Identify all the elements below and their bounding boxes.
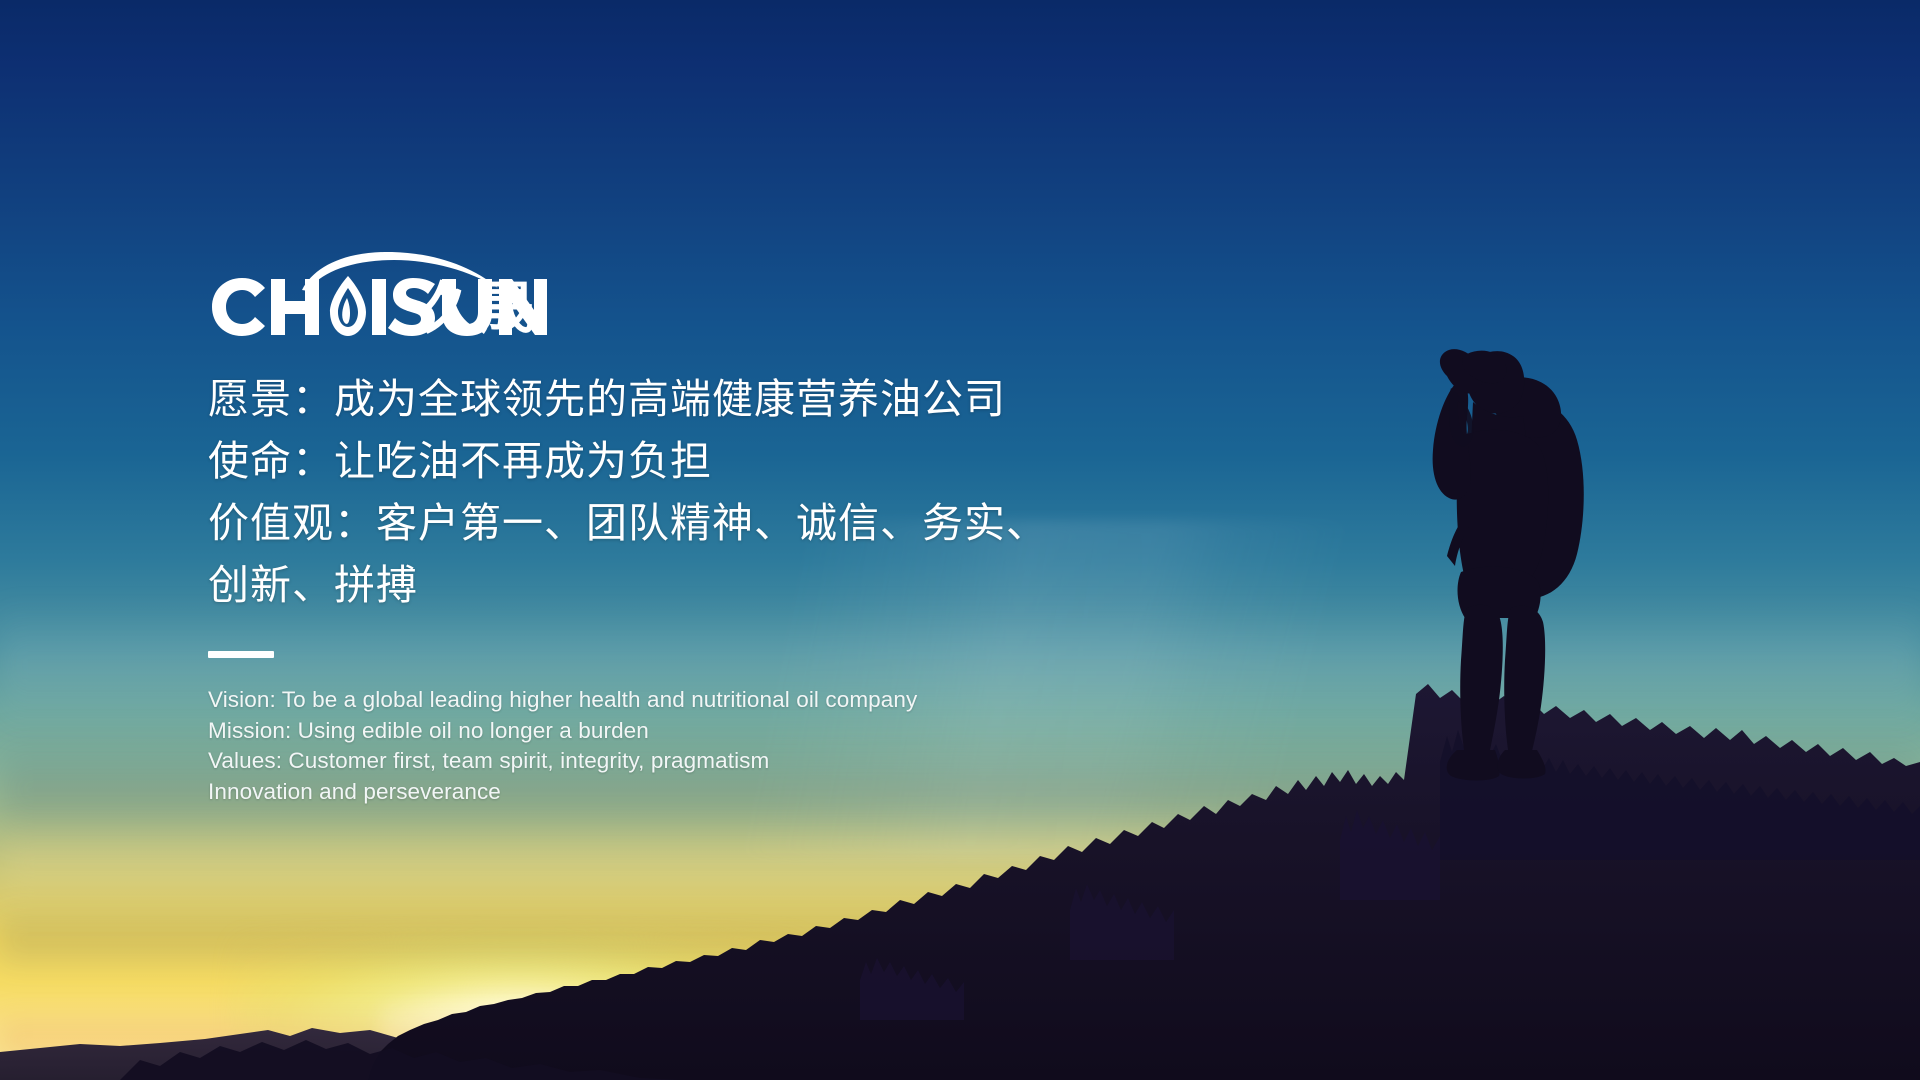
chinese-statement-block: 愿景：成为全球领先的高端健康营养油公司 使命：让吃油不再成为负担 价值观：客户第… xyxy=(208,368,1328,616)
mission-line-cn: 使命：让吃油不再成为负担 xyxy=(208,430,1328,492)
vision-line-cn: 愿景：成为全球领先的高端健康营养油公司 xyxy=(208,368,1328,430)
logo-cn-text: 久晟 xyxy=(422,277,534,338)
logo-chinese-characters: 久晟 xyxy=(422,276,542,338)
slide-canvas: 久晟 愿景：成为全球领先的高端健康营养油公司 使命：让吃油不再成为负担 价值观：… xyxy=(0,0,1920,1080)
values-line-en-1: Values: Customer first, team spirit, int… xyxy=(208,746,1328,777)
values-line-en-2: Innovation and perseverance xyxy=(208,777,1328,808)
vision-line-en: Vision: To be a global leading higher he… xyxy=(208,685,1328,716)
brand-logo[interactable]: 久晟 xyxy=(208,250,558,350)
divider-rule xyxy=(208,651,274,658)
text-content: 久晟 愿景：成为全球领先的高端健康营养油公司 使命：让吃油不再成为负担 价值观：… xyxy=(208,250,1328,807)
english-statement-block: Vision: To be a global leading higher he… xyxy=(208,685,1328,807)
hiker-with-backpack-binoculars-silhouette xyxy=(1395,340,1625,790)
sun-core xyxy=(380,1000,680,1070)
mission-line-en: Mission: Using edible oil no longer a bu… xyxy=(208,716,1328,747)
values-line-cn-1: 价值观：客户第一、团队精神、诚信、务实、 xyxy=(208,492,1328,554)
values-line-cn-2: 创新、拼搏 xyxy=(208,554,1328,616)
